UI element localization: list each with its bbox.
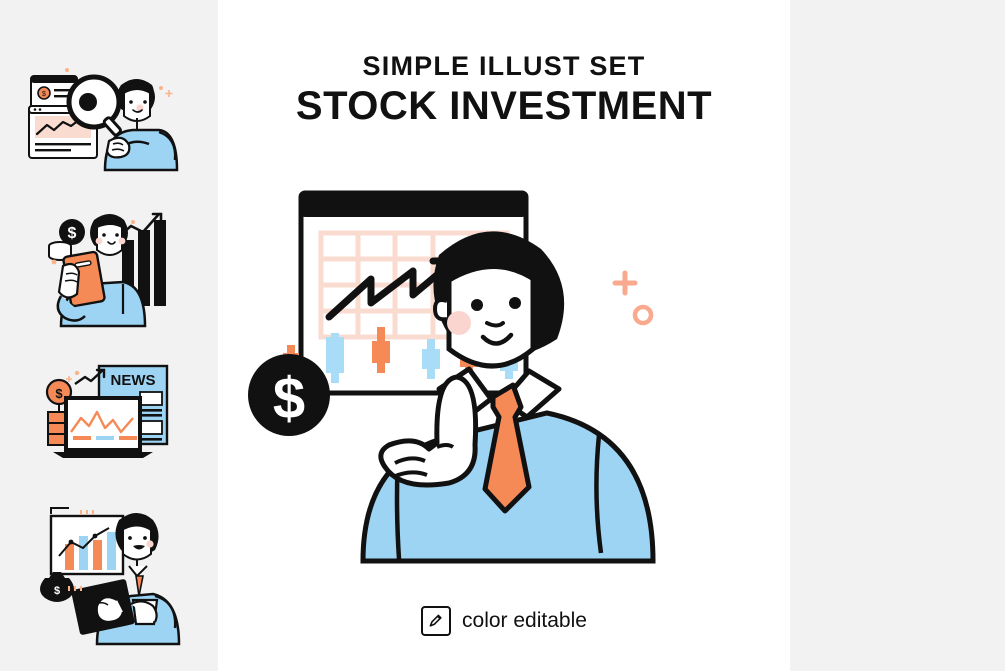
hand-holding-phone	[59, 264, 79, 298]
thumb-left-1-magnifier-research[interactable]: $	[9, 40, 209, 190]
laptop-with-chart	[53, 396, 153, 458]
right-thumbnail-panel: $	[790, 0, 1005, 671]
thumb-left-3-market-news[interactable]: NEWS $	[9, 340, 209, 490]
svg-text:$: $	[42, 91, 46, 98]
footer-note: color editable	[218, 606, 790, 636]
page-subtitle: SIMPLE ILLUST SET	[218, 52, 790, 80]
svg-text:$: $	[68, 225, 77, 242]
thumb-left-2-mobile-trading[interactable]: $	[9, 190, 209, 340]
thumb-left-4-analyst-clipboard[interactable]: $	[9, 492, 209, 642]
page-title: STOCK INVESTMENT	[218, 84, 790, 128]
center-panel: SIMPLE ILLUST SET STOCK INVESTMENT	[218, 0, 790, 671]
eye-left	[471, 299, 483, 311]
svg-text:$: $	[54, 585, 60, 597]
left-thumbnail-panel: $	[0, 0, 218, 671]
svg-text:$: $	[55, 386, 63, 401]
whiteboard-bar-chart	[51, 508, 123, 574]
pencil-edit-icon	[421, 606, 451, 636]
tie	[485, 385, 529, 511]
sparkle-decorations	[66, 371, 79, 382]
news-label: NEWS	[111, 372, 156, 389]
eye-right	[509, 297, 521, 309]
footer-label: color editable	[462, 609, 587, 633]
illustration-set-page: $	[0, 0, 1005, 671]
dollar-coin-icon: $	[59, 219, 85, 245]
title-block: SIMPLE ILLUST SET STOCK INVESTMENT	[218, 52, 790, 128]
hero-illustration: $	[243, 175, 768, 575]
cheek-blush	[447, 311, 471, 335]
dollar-coin-badge: $	[248, 354, 330, 436]
decoration-marks	[615, 273, 651, 323]
hand-fist	[107, 138, 129, 158]
ear	[435, 300, 447, 319]
svg-text:$: $	[273, 366, 305, 431]
